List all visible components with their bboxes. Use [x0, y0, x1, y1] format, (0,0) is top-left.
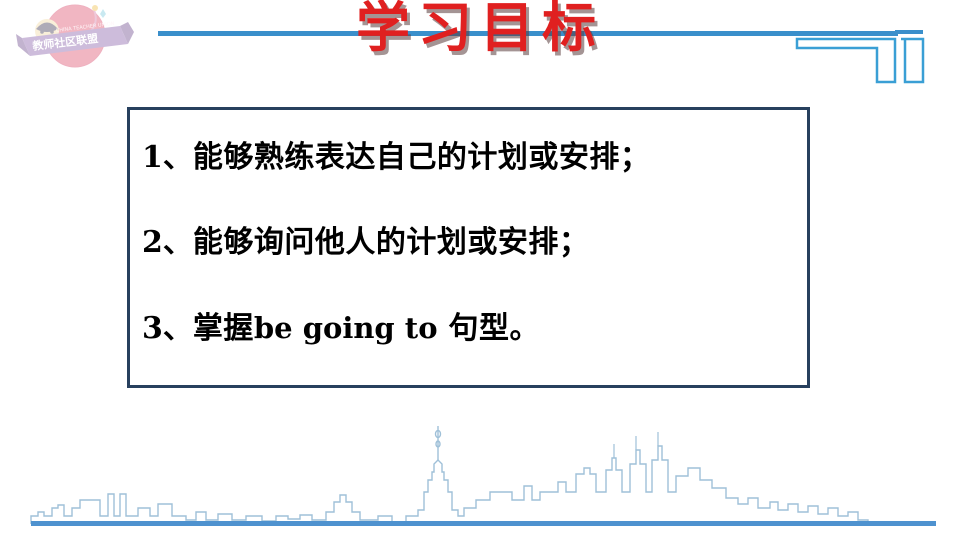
objectives-box: 1、能够熟练表达自己的计划或安排； 2、能够询问他人的计划或安排； 3、掌握be… [127, 107, 810, 388]
slide-canvas: 教师社区联盟 CHINA TEACHER UNION 学习目标 1、能够熟练表达… [0, 0, 960, 540]
list-item: 1、能够熟练表达自己的计划或安排； [142, 138, 801, 178]
footer-blue-rule [31, 521, 936, 526]
list-item: 3、掌握be going to 句型。 [142, 308, 801, 349]
item-text: 能够询问他人的计划或安排； [193, 225, 590, 260]
page-title: 学习目标 [0, 0, 960, 58]
item-number: 2、 [142, 225, 193, 260]
item-number: 1、 [142, 140, 193, 175]
item-text: 能够熟练表达自己的计划或安排； [193, 140, 651, 175]
item-number: 3、 [142, 311, 193, 346]
objectives-list: 1、能够熟练表达自己的计划或安排； 2、能够询问他人的计划或安排； 3、掌握be… [142, 138, 801, 349]
item-text-before: 掌握 [193, 311, 254, 346]
item-english-phrase: be going to [254, 311, 438, 345]
item-text-after: 句型。 [438, 311, 540, 346]
list-item: 2、能够询问他人的计划或安排； [142, 223, 801, 263]
